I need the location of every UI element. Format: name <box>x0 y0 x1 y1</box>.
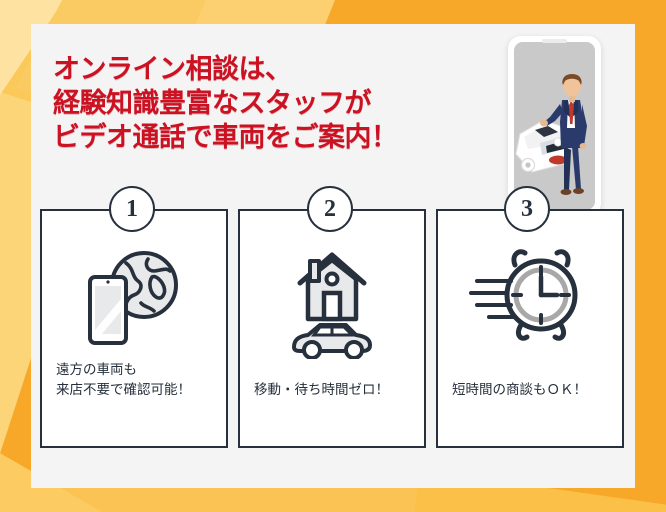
feature-card-2-text: 移動・待ち時間ゼロ！ <box>254 380 414 400</box>
step-number-circle-1: 1 <box>109 186 155 232</box>
step-number-3: 3 <box>521 197 533 221</box>
step-number-1: 1 <box>126 197 138 221</box>
phone-screen <box>514 42 595 210</box>
feature-card-3-line-1: 短時間の商談もＯＫ！ <box>452 380 612 400</box>
smartphone-globe-icon <box>42 225 226 365</box>
feature-card-2-line-1: 移動・待ち時間ゼロ！ <box>254 380 414 400</box>
content-panel: オンライン相談は、 経験知識豊富なスタッフが ビデオ通話で車両をご案内！ <box>31 24 635 488</box>
step-number-circle-3: 3 <box>504 186 550 232</box>
alarm-clock-speed-icon <box>438 225 622 365</box>
house-car-icon <box>240 225 424 365</box>
headline-line-2: 経験知識豊富なスタッフが <box>53 86 503 120</box>
headline-line-1: オンライン相談は、 <box>53 52 503 86</box>
feature-card-3-text: 短時間の商談もＯＫ！ <box>452 380 612 400</box>
feature-card-1-line-1: 遠方の車両も <box>56 360 216 380</box>
promo-banner: オンライン相談は、 経験知識豊富なスタッフが ビデオ通話で車両をご案内！ <box>0 0 666 512</box>
staff-with-car-illustration <box>514 42 595 210</box>
feature-card-1-text: 遠方の車両も 来店不要で確認可能！ <box>56 360 216 400</box>
headline: オンライン相談は、 経験知識豊富なスタッフが ビデオ通話で車両をご案内！ <box>53 52 503 154</box>
step-number-circle-2: 2 <box>307 186 353 232</box>
feature-card-1-line-2: 来店不要で確認可能！ <box>56 380 216 400</box>
headline-line-3: ビデオ通話で車両をご案内！ <box>53 120 503 154</box>
phone-side-button-2 <box>506 99 508 121</box>
phone-side-button-1 <box>506 80 508 94</box>
feature-card-3[interactable]: 短時間の商談もＯＫ！ <box>436 209 624 448</box>
step-number-2: 2 <box>324 197 336 221</box>
feature-card-1[interactable]: 遠方の車両も 来店不要で確認可能！ <box>40 209 228 448</box>
phone-speaker-notch <box>542 39 567 43</box>
feature-card-2[interactable]: 移動・待ち時間ゼロ！ <box>238 209 426 448</box>
